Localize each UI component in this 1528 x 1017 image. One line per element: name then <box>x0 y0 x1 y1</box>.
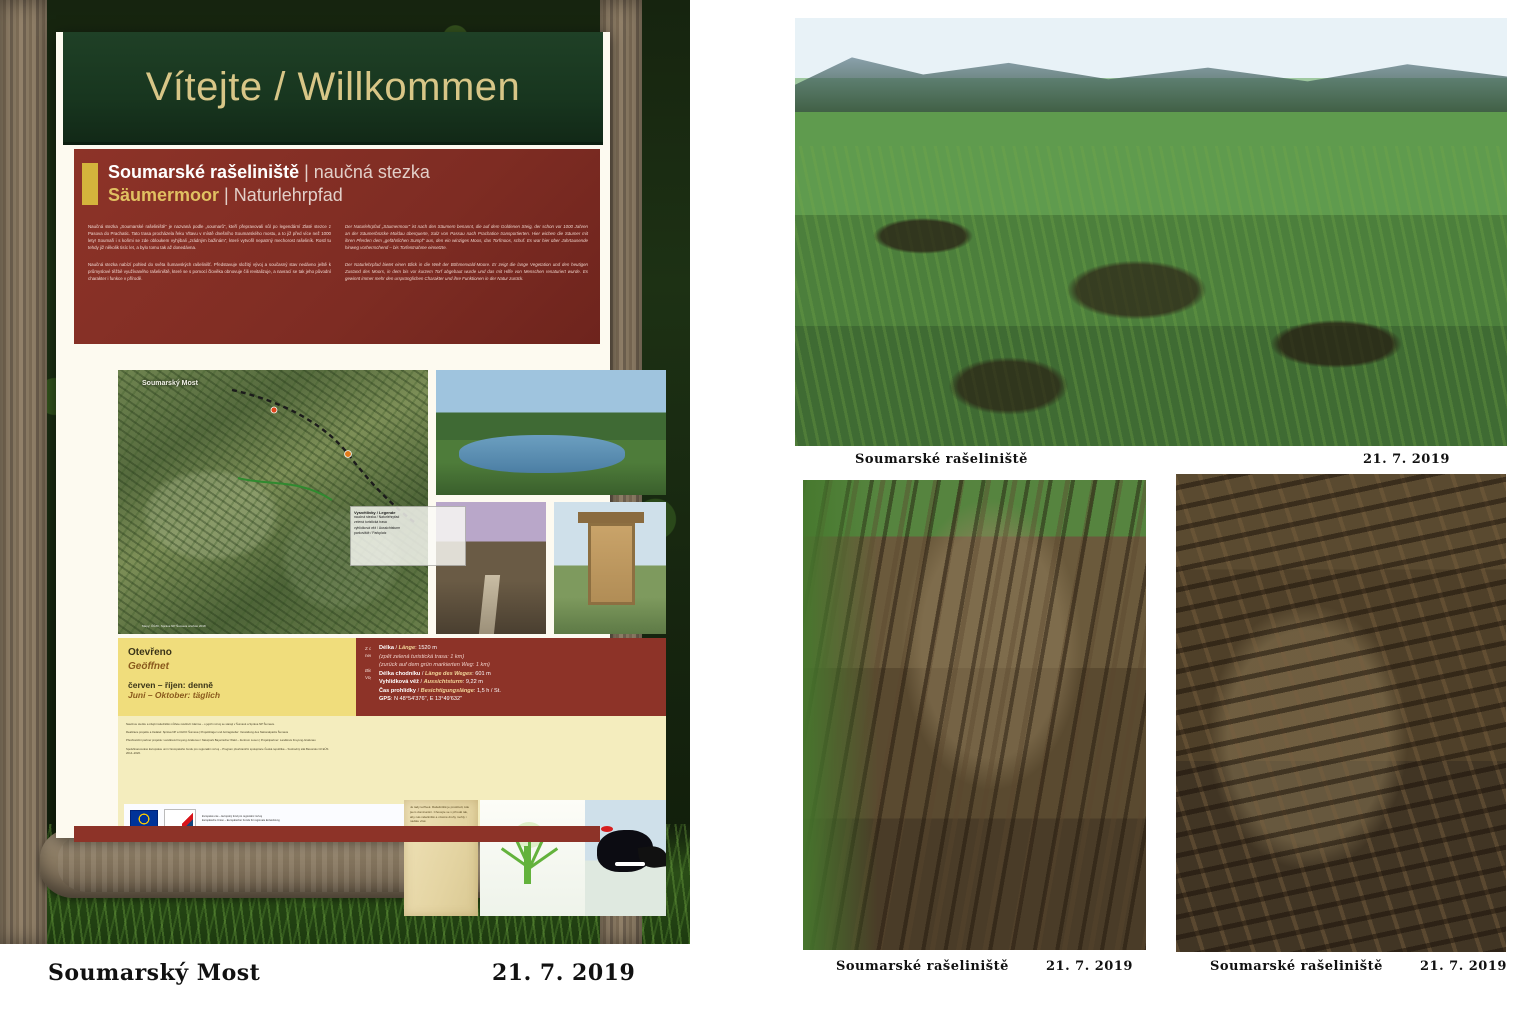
yellow-accent-tab <box>82 163 98 205</box>
credits-line-4: Spolufinancováno Evropskou unií z Evrops… <box>126 747 336 755</box>
caption-bottom-right-title: Soumarské rašeliniště <box>1210 959 1383 974</box>
caption-bottom-right-date: 21. 7. 2019 <box>1420 959 1507 974</box>
fact-label-de: Länge <box>399 645 415 651</box>
eu-text-de: Europäische Union – Europäischer Fonds f… <box>202 819 280 823</box>
fact-duration: Čas prohlídky / Besichtigungslänge: 1,5 … <box>379 687 658 696</box>
body-cz-paragraph-2: Naučná stezka nabízí pohled do světa šum… <box>88 261 331 282</box>
title-de-bold: Säumermoor <box>108 185 219 205</box>
photo-root-trail <box>803 480 1146 950</box>
map-legend: Vysvětlivky / Legende naučná stezka / Na… <box>350 506 466 566</box>
fact-value: N 48°54'376", E 13°49'632" <box>394 696 462 702</box>
black-grouse-photo <box>585 800 666 916</box>
map-credit: Mapy: ČÚZK, Správa NP Šumava ortofoto 20… <box>142 624 206 628</box>
caption-main-title: Soumarský Most <box>48 960 260 986</box>
title-line-de: Säumermoor | Naturlehrpfad <box>108 184 584 207</box>
caption-top-right-date: 21. 7. 2019 <box>1363 452 1450 467</box>
fact-label-de: Besichtigungslänge <box>421 688 474 694</box>
board-footer-bar <box>74 826 600 842</box>
credits-block: Naučnou stezku a zdejší rašeliniště může… <box>126 722 336 759</box>
trail-side-grass <box>803 480 878 950</box>
body-de-paragraph-1: Der Naturlehrpfad „Säumermoor“ ist nach … <box>345 223 588 252</box>
board-photo-bog-pool <box>436 370 666 495</box>
grouse-red-comb <box>601 826 613 832</box>
board-title-block: Soumarské rašeliniště | naučná stezka Sä… <box>108 161 584 206</box>
route-facts-block: Délka / Länge: 1520 m (zpět zelená turis… <box>371 638 666 716</box>
fact-label-cz: Čas prohlídky <box>379 688 416 694</box>
board-header-text: Vítejte / Willkommen <box>146 65 521 110</box>
grouse-wing-bar <box>615 862 645 866</box>
distant-hills <box>795 44 1507 112</box>
panel-bottom-row: Naučnou stezku a zdejší rašeliniště může… <box>118 716 666 838</box>
parchment-text-cz: Je tady tetřívek. Rašeliniště je prostře… <box>410 805 472 824</box>
fact-return-note: (zpět zelená turistická trasa: 1 km) <box>379 653 658 662</box>
fact-label-de: Länge des Weges <box>425 671 472 677</box>
photo-peat-bog-panorama <box>795 18 1507 446</box>
credits-line-2: Realizace projektu a žadatel: Správa NP … <box>126 730 336 734</box>
aerial-map: Soumarský Most Vysvětlivky / Legende nau… <box>118 370 428 634</box>
open-label-cz: Otevřeno <box>128 646 346 660</box>
months-de: Juni – Oktober: täglich <box>128 690 346 700</box>
fact-walkway: Délka chodníku / Länge des Weges: 601 m <box>379 670 658 679</box>
fact-tower: Vyhlídková věž / Aussichtsturm: 9,22 m <box>379 678 658 687</box>
fact-sub-cz: (zpět zelená turistická trasa: 1 km) <box>379 654 464 660</box>
lookout-tower-shape <box>588 523 635 605</box>
fact-label-cz: Délka chodníku <box>379 671 420 677</box>
fact-length: Délka / Länge: 1520 m <box>379 644 658 653</box>
moor-surface <box>795 146 1507 446</box>
parchment-note: Je tady tetřívek. Rašeliniště je prostře… <box>404 800 478 916</box>
credits-line-1: Naučnou stezku a zdejší rašeliniště může… <box>126 722 336 726</box>
title-line-cz: Soumarské rašeliniště | naučná stezka <box>108 161 584 184</box>
caption-main-date: 21. 7. 2019 <box>492 960 635 986</box>
wooden-post-left <box>0 0 47 944</box>
board-body-columns: Naučná stezka „Soumarské rašeliniště“ je… <box>88 223 588 291</box>
photo-information-board: Vítejte / Willkommen Soumarské rašeliniš… <box>0 0 690 944</box>
fact-value: 1,5 h / St. <box>477 688 501 694</box>
board-title-panel: Soumarské rašeliniště | naučná stezka Sä… <box>74 149 600 344</box>
tree-roots-texture <box>1176 474 1506 952</box>
open-label-de: Geöffnet <box>128 660 346 674</box>
photo-exposed-roots <box>1176 474 1506 952</box>
fact-gps: GPS: N 48°54'376", E 13°49'632" <box>379 695 658 704</box>
sundew-mascot-illustration <box>480 800 585 916</box>
photo-collage-page: Vítejte / Willkommen Soumarské rašeliniš… <box>0 0 1528 1017</box>
board-info-panel: Otevřeno Geöffnet červen – říjen: denně … <box>118 638 666 838</box>
body-cz-paragraph-1: Naučná stezka „Soumarské rašeliniště“ je… <box>88 223 331 252</box>
board-photo-lookout-tower <box>554 502 666 634</box>
map-legend-item: parkoviště / Parkplatz <box>354 531 462 536</box>
fact-value: 9,22 m <box>466 679 483 685</box>
credits-line-3: Přeshraniční partner projektu: Landkreis… <box>126 738 336 742</box>
body-column-de: Der Naturlehrpfad „Säumermoor“ ist nach … <box>345 223 588 291</box>
caption-top-right-title: Soumarské rašeliniště <box>855 452 1028 467</box>
fact-label-cz: GPS <box>379 696 391 702</box>
title-cz-rest: | naučná stezka <box>299 162 430 182</box>
board-header-banner: Vítejte / Willkommen <box>63 32 603 145</box>
information-board: Vítejte / Willkommen Soumarské rašeliniš… <box>56 32 610 838</box>
fact-value: 601 m <box>475 671 491 677</box>
title-de-rest: | Naturlehrpfad <box>219 185 343 205</box>
fact-label-de: Aussichtsturm <box>424 679 463 685</box>
fact-label-cz: Vyhlídková věž <box>379 679 419 685</box>
fact-sub-de: (zurück auf dem grün markierten Weg: 1 k… <box>379 662 490 668</box>
opening-hours-block: Otevřeno Geöffnet červen – říjen: denně … <box>118 638 356 716</box>
map-place-label: Soumarský Most <box>142 380 198 387</box>
title-cz-bold: Soumarské rašeliniště <box>108 162 299 182</box>
fact-return-note-de: (zurück auf dem grün markierten Weg: 1 k… <box>379 661 658 670</box>
fact-label-cz: Délka <box>379 645 394 651</box>
body-column-cz: Naučná stezka „Soumarské rašeliniště“ je… <box>88 223 331 291</box>
fact-value: 1520 m <box>418 645 437 651</box>
caption-bottom-left-title: Soumarské rašeliniště <box>836 959 1009 974</box>
months-cz: červen – říjen: denně <box>128 680 346 690</box>
body-de-paragraph-2: Der Naturlehrpfad bietet einen Blick in … <box>345 261 588 282</box>
caption-bottom-left-date: 21. 7. 2019 <box>1046 959 1133 974</box>
